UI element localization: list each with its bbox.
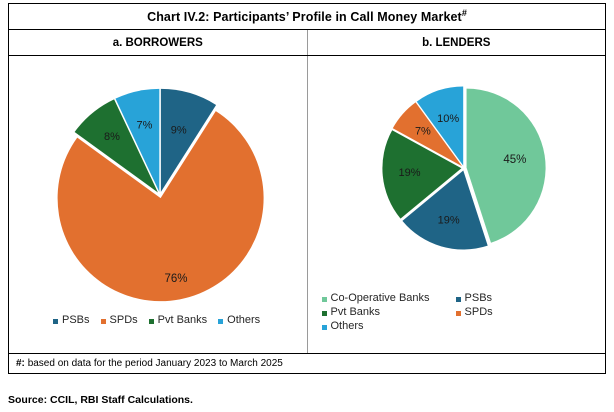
pie-slice-label: 19% bbox=[437, 215, 459, 227]
legend-swatch-lenders-psbs bbox=[456, 297, 461, 302]
pie-chart-borrowers: 9%76%8%7% bbox=[45, 84, 275, 306]
legend-item-lenders-psbs[interactable]: PSBs bbox=[456, 292, 493, 304]
panel-lenders: 45%19%19%7%10% Co-Operative Banks PSBs P… bbox=[308, 56, 606, 353]
legend-swatch-lenders-others bbox=[322, 325, 327, 330]
legend-swatch-pvt-banks bbox=[149, 319, 154, 324]
pie-svg-lenders: 45%19%19%7%10% bbox=[378, 82, 554, 258]
panel-heading-lenders: b. LENDERS bbox=[308, 30, 606, 55]
legend-label-psbs: PSBs bbox=[62, 314, 90, 326]
pie-slice-label: 9% bbox=[171, 125, 187, 137]
legend-item-lenders-others[interactable]: Others bbox=[322, 320, 430, 332]
legend-label-pvt-banks: Pvt Banks bbox=[158, 314, 208, 326]
legend-swatch-psbs bbox=[53, 319, 58, 324]
panel-heading-row: a. BORROWERS b. LENDERS bbox=[9, 30, 605, 56]
legend-swatch-lenders-spds bbox=[456, 311, 461, 316]
pie-slice-label: 76% bbox=[164, 273, 187, 285]
page-title: Chart IV.2: Participants’ Profile in Cal… bbox=[147, 8, 467, 24]
legend-label-lenders-others: Others bbox=[331, 320, 364, 332]
panel-borrowers: 9%76%8%7% PSBs SPDs Pvt Banks bbox=[9, 56, 308, 353]
legend-label-others: Others bbox=[227, 314, 260, 326]
chart-title-superscript: # bbox=[462, 8, 467, 18]
pie-svg-borrowers: 9%76%8%7% bbox=[45, 84, 275, 306]
pie-slice-label: 8% bbox=[104, 131, 120, 143]
legend-label-lenders-psbs: PSBs bbox=[465, 292, 493, 304]
source-line: Source: CCIL, RBI Staff Calculations. bbox=[8, 394, 193, 406]
chart-body-row: 9%76%8%7% PSBs SPDs Pvt Banks bbox=[9, 56, 605, 354]
legend-item-co-operative-banks[interactable]: Co-Operative Banks bbox=[322, 292, 430, 304]
footnote-row: #: based on data for the period January … bbox=[9, 354, 605, 373]
footnote-marker: #: bbox=[16, 358, 25, 369]
chart-title-text: Chart IV.2: Participants’ Profile in Cal… bbox=[147, 11, 462, 25]
chart-title-row: Chart IV.2: Participants’ Profile in Cal… bbox=[9, 4, 605, 30]
chart-container: Chart IV.2: Participants’ Profile in Cal… bbox=[8, 3, 606, 374]
legend-item-lenders-spds[interactable]: SPDs bbox=[456, 306, 493, 318]
legend-swatch-lenders-pvt-banks bbox=[322, 311, 327, 316]
legend-item-lenders-pvt-banks[interactable]: Pvt Banks bbox=[322, 306, 430, 318]
legend-label-co-operative-banks: Co-Operative Banks bbox=[331, 292, 430, 304]
pie-slice-label: 7% bbox=[414, 126, 430, 138]
footnote: #: based on data for the period January … bbox=[16, 358, 283, 369]
legend-label-lenders-spds: SPDs bbox=[465, 306, 493, 318]
legend-item-spds[interactable]: SPDs bbox=[101, 314, 138, 326]
footnote-text: based on data for the period January 202… bbox=[28, 358, 283, 369]
chart-page: Chart IV.2: Participants’ Profile in Cal… bbox=[0, 0, 614, 412]
legend-item-others[interactable]: Others bbox=[218, 314, 260, 326]
legend-label-spds: SPDs bbox=[110, 314, 138, 326]
legend-label-lenders-pvt-banks: Pvt Banks bbox=[331, 306, 381, 318]
pie-slice-label: 19% bbox=[398, 167, 420, 179]
legend-item-psbs[interactable]: PSBs bbox=[53, 314, 90, 326]
pie-slice-label: 45% bbox=[503, 154, 526, 166]
legend-item-pvt-banks[interactable]: Pvt Banks bbox=[149, 314, 208, 326]
legend-borrowers: PSBs SPDs Pvt Banks Others bbox=[53, 314, 260, 326]
legend-swatch-co-operative-banks bbox=[322, 297, 327, 302]
legend-swatch-spds bbox=[101, 319, 106, 324]
pie-chart-lenders: 45%19%19%7%10% bbox=[378, 82, 554, 258]
legend-lenders: Co-Operative Banks PSBs Pvt Banks SPDs bbox=[322, 292, 493, 332]
pie-slice-label: 7% bbox=[137, 119, 153, 131]
legend-swatch-others bbox=[218, 319, 223, 324]
panel-heading-borrowers: a. BORROWERS bbox=[9, 30, 308, 55]
pie-slice-label: 10% bbox=[437, 113, 459, 125]
